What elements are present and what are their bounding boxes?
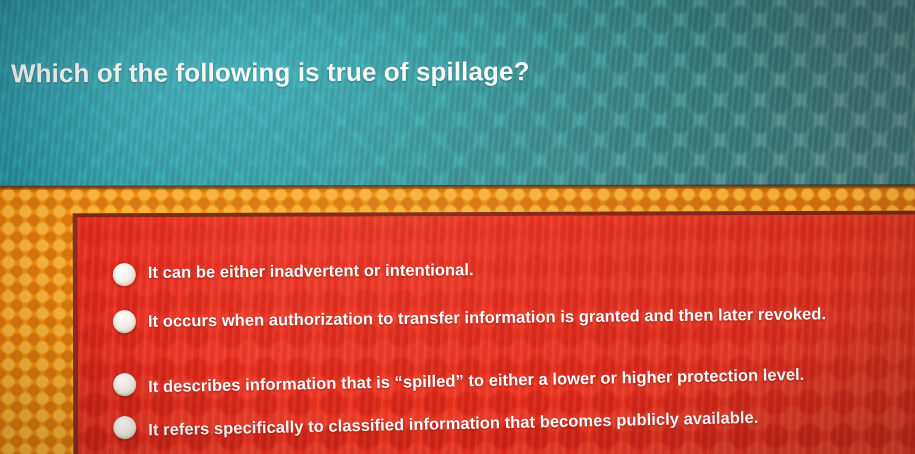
answer-option-c[interactable]: It describes information that is “spille… — [113, 370, 915, 397]
answer-options-list: It can be either inadvertent or intentio… — [78, 215, 915, 258]
answer-option-label: It can be either inadvertent or intentio… — [148, 260, 474, 284]
radio-button-icon[interactable] — [113, 310, 136, 333]
quiz-screen: Which of the following is true of spilla… — [0, 0, 915, 454]
answer-option-d[interactable]: It refers specifically to classified inf… — [113, 413, 915, 440]
radio-button-icon[interactable] — [113, 373, 136, 396]
header-dot-pattern-small — [0, 0, 915, 192]
answer-option-b[interactable]: It occurs when authorization to transfer… — [113, 307, 915, 334]
answer-option-a[interactable]: It can be either inadvertent or intentio… — [113, 260, 915, 287]
answer-option-label: It occurs when authorization to transfer… — [148, 304, 826, 333]
answers-panel: It can be either inadvertent or intentio… — [73, 211, 915, 454]
question-header — [0, 0, 915, 192]
radio-button-icon[interactable] — [113, 263, 136, 286]
radio-button-icon[interactable] — [113, 416, 136, 439]
question-title: Which of the following is true of spilla… — [11, 56, 651, 89]
